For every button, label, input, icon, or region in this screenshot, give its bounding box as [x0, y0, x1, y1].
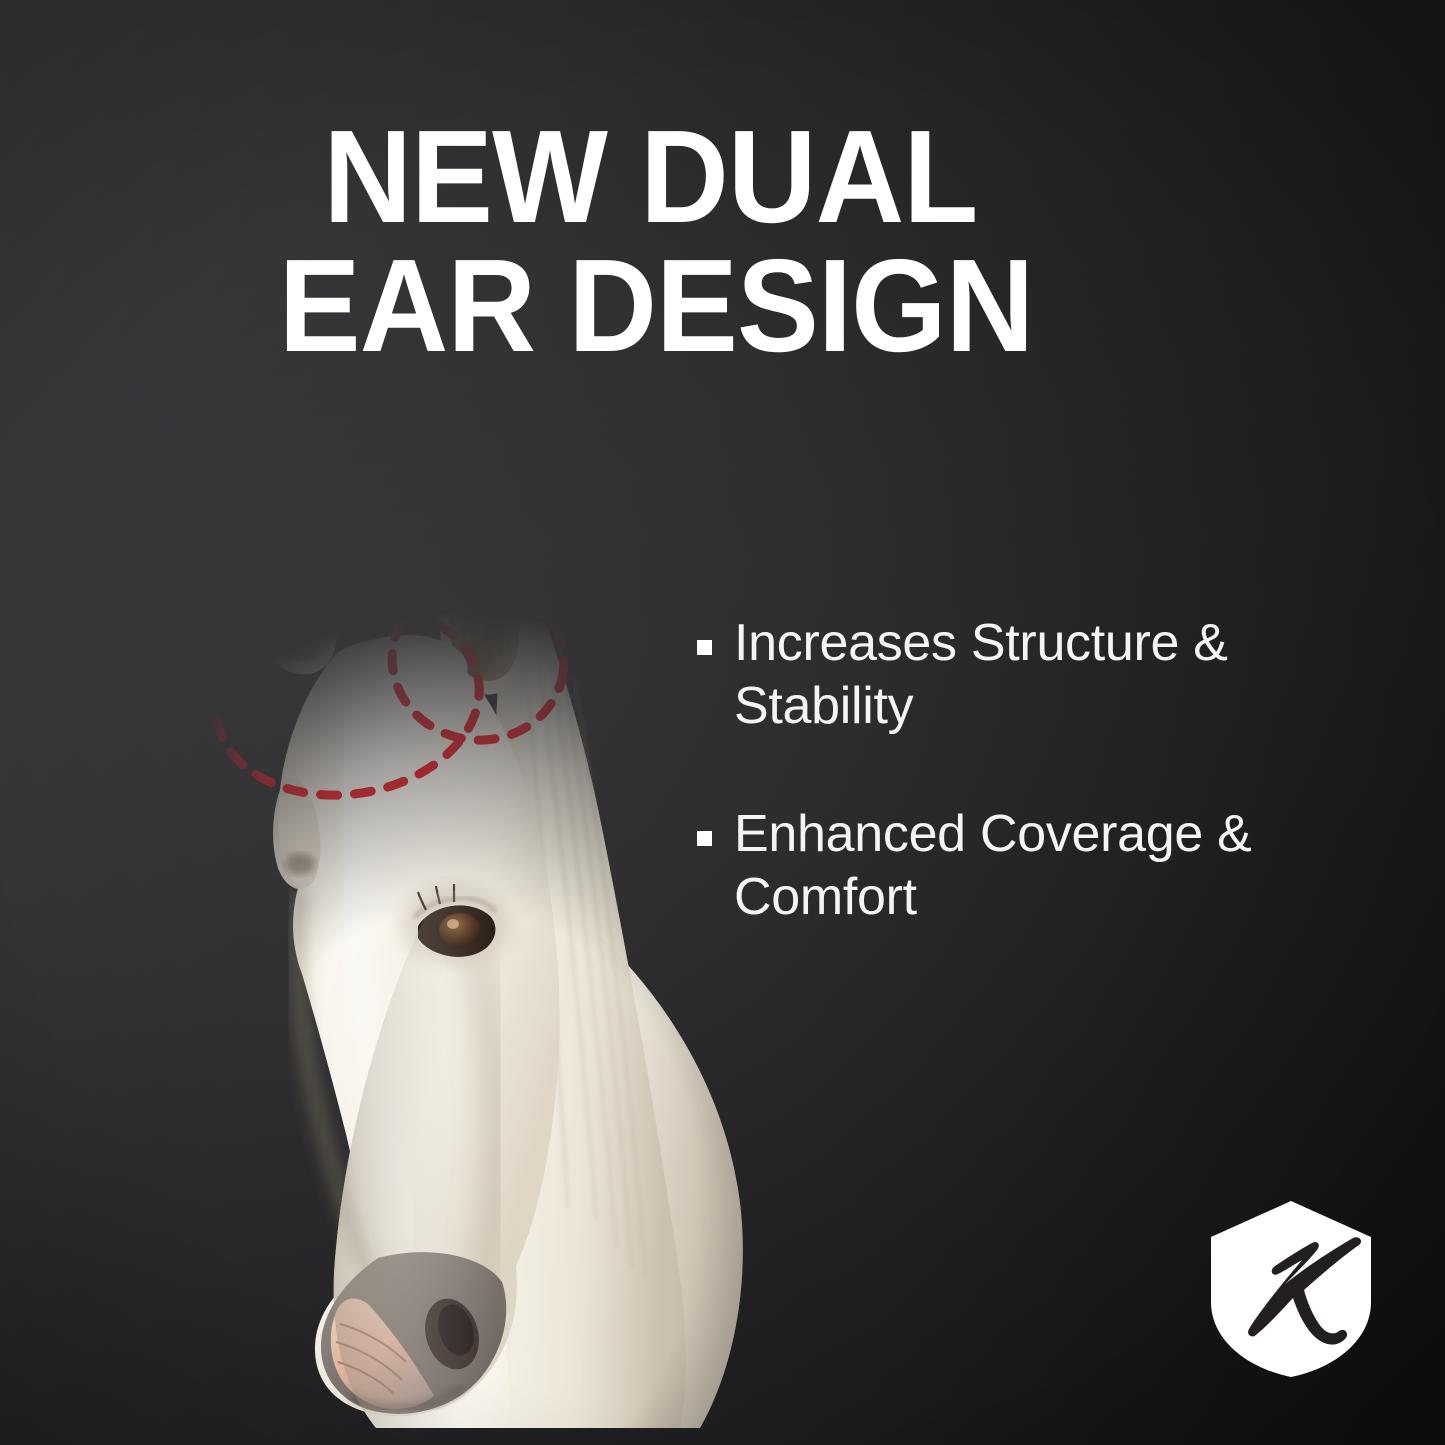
page-title: NEW DUAL EAR DESIGN — [262, 112, 1136, 371]
square-bullet-icon — [697, 831, 712, 846]
list-item-label: Increases Structure & Stability — [734, 612, 1357, 739]
headline-line-1: NEW DUAL — [262, 112, 1136, 241]
advertisement-canvas: NEW DUAL EAR DESIGN Increases Structure … — [0, 0, 1445, 1445]
list-item: Enhanced Coverage & Comfort — [697, 803, 1357, 930]
headline-line-2: EAR DESIGN — [262, 241, 1136, 370]
feature-list: Increases Structure & Stability Enhanced… — [697, 612, 1357, 930]
list-item: Increases Structure & Stability — [697, 612, 1357, 739]
list-item-label: Enhanced Coverage & Comfort — [734, 803, 1357, 930]
brand-logo — [1205, 1198, 1377, 1380]
square-bullet-icon — [697, 640, 712, 655]
